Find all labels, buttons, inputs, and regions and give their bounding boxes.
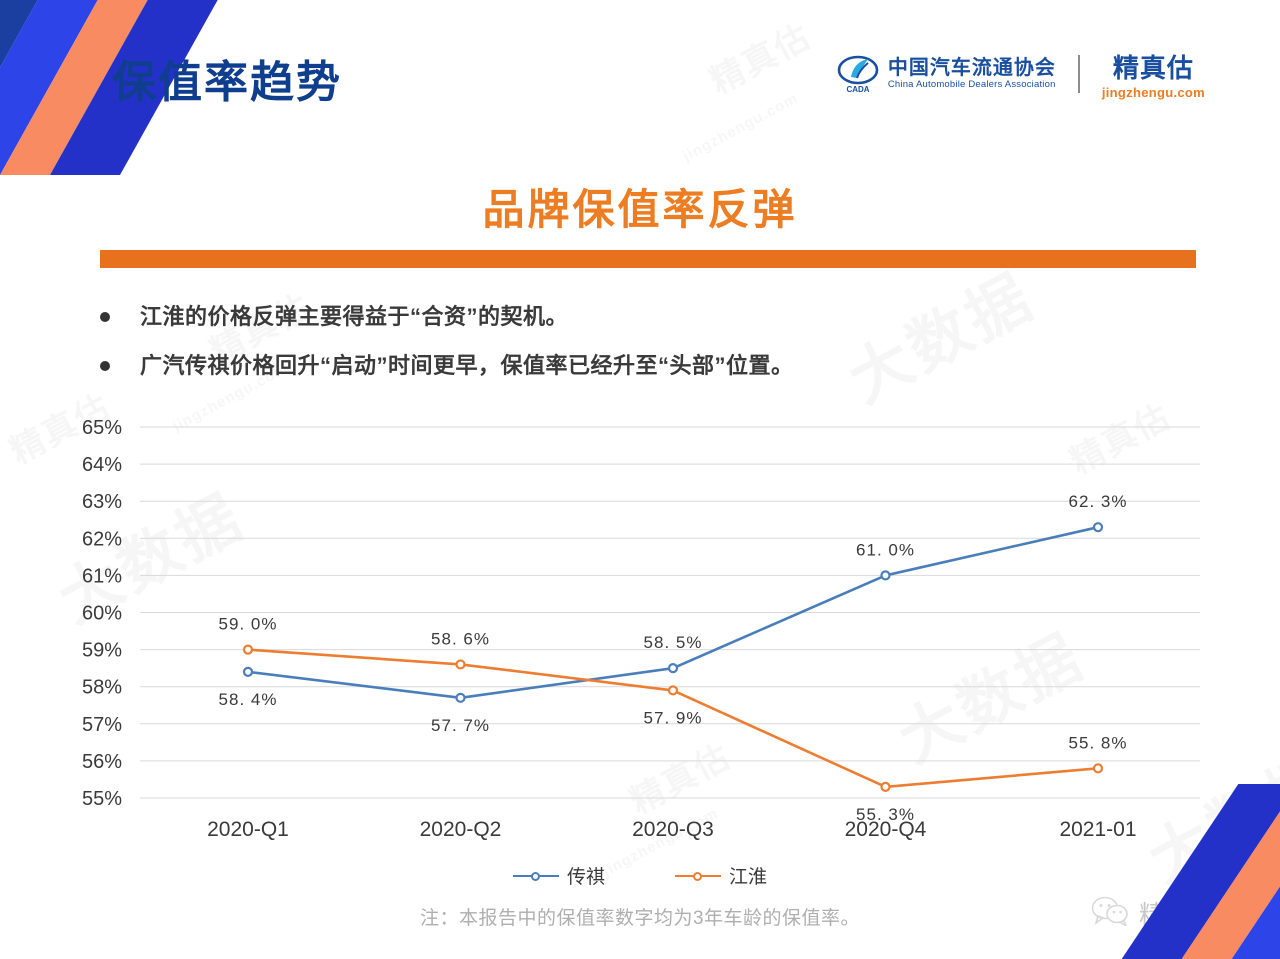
y-axis-tick-label: 62% bbox=[82, 528, 122, 550]
legend-marker-orange bbox=[675, 870, 721, 882]
logo-divider bbox=[1078, 55, 1080, 93]
chart-data-point[interactable] bbox=[882, 571, 890, 579]
jingzhengu-name-zh: 精真估 bbox=[1102, 48, 1205, 85]
chart-data-label: 59. 0% bbox=[219, 615, 278, 634]
bullet-list: 江淮的价格反弹主要得益于“合资”的契机。 广汽传祺价格回升“启动”时间更早，保值… bbox=[100, 300, 1200, 398]
legend-item-jianghuai[interactable]: 江淮 bbox=[675, 862, 767, 889]
bullet-text: 江淮的价格反弹主要得益于“合资”的契机。 bbox=[140, 300, 568, 333]
page-title: 保值率趋势 bbox=[112, 46, 342, 110]
wechat-icon bbox=[1091, 896, 1129, 931]
y-axis-tick-label: 56% bbox=[82, 751, 122, 773]
y-axis-tick-label: 64% bbox=[82, 454, 122, 476]
cada-logo-text: 中国汽车流通协会 China Automobile Dealers Associ… bbox=[888, 57, 1056, 90]
y-axis-tick-label: 58% bbox=[82, 677, 122, 699]
x-axis-tick-label: 2020-Q2 bbox=[420, 818, 502, 841]
jingzhengu-logo: 精真估 jingzhengu.com bbox=[1102, 48, 1205, 100]
cada-emblem-icon: CADA bbox=[837, 53, 879, 95]
y-axis-tick-label: 57% bbox=[82, 714, 122, 736]
legend-label: 江淮 bbox=[729, 862, 767, 889]
x-axis-tick-label: 2020-Q3 bbox=[632, 818, 714, 841]
retention-rate-line-chart: 65%64%63%62%61%60%59%58%57%56%55%2020-Q1… bbox=[0, 405, 1280, 905]
wechat-label: 精真估 bbox=[1139, 895, 1220, 932]
chart-data-point[interactable] bbox=[882, 783, 890, 791]
chart-data-label: 55. 3% bbox=[856, 805, 915, 824]
chart-data-label: 57. 9% bbox=[644, 708, 703, 727]
y-axis-tick-label: 55% bbox=[82, 788, 122, 810]
jingzhengu-name-en: jingzhengu.com bbox=[1102, 85, 1205, 100]
chart-data-point[interactable] bbox=[457, 694, 465, 702]
cada-logo: CADA 中国汽车流通协会 China Automobile Dealers A… bbox=[837, 53, 1056, 95]
y-axis-tick-label: 60% bbox=[82, 603, 122, 625]
chart-svg: 65%64%63%62%61%60%59%58%57%56%55%2020-Q1… bbox=[0, 405, 1280, 865]
bullet-dot-icon bbox=[100, 361, 110, 371]
accent-bar bbox=[100, 250, 1196, 268]
chart-data-point[interactable] bbox=[669, 664, 677, 672]
y-axis-tick-label: 59% bbox=[82, 640, 122, 662]
chart-data-point[interactable] bbox=[669, 686, 677, 694]
bullet-dot-icon bbox=[100, 312, 110, 322]
svg-text:CADA: CADA bbox=[846, 85, 869, 94]
chart-data-label: 58. 4% bbox=[219, 690, 278, 709]
legend-label: 传祺 bbox=[567, 862, 605, 889]
wechat-badge: 精真估 bbox=[1091, 895, 1220, 932]
logo-block: CADA 中国汽车流通协会 China Automobile Dealers A… bbox=[837, 48, 1205, 100]
y-axis-tick-label: 61% bbox=[82, 565, 122, 587]
legend-marker-blue bbox=[513, 870, 559, 882]
chart-data-label: 58. 6% bbox=[431, 629, 490, 648]
cada-name-zh: 中国汽车流通协会 bbox=[888, 57, 1056, 79]
chart-data-label: 57. 7% bbox=[431, 716, 490, 735]
bullet-text: 广汽传祺价格回升“启动”时间更早，保值率已经升至“头部”位置。 bbox=[140, 349, 794, 382]
list-item: 江淮的价格反弹主要得益于“合资”的契机。 bbox=[100, 300, 1200, 333]
chart-data-point[interactable] bbox=[1094, 764, 1102, 772]
chart-data-label: 62. 3% bbox=[1069, 492, 1128, 511]
chart-data-point[interactable] bbox=[244, 668, 252, 676]
chart-data-label: 58. 5% bbox=[644, 633, 703, 652]
cada-name-en: China Automobile Dealers Association bbox=[888, 79, 1056, 90]
chart-data-point[interactable] bbox=[244, 646, 252, 654]
chart-data-point[interactable] bbox=[1094, 523, 1102, 531]
chart-legend: 传祺 江淮 bbox=[0, 862, 1280, 889]
x-axis-tick-label: 2020-Q1 bbox=[207, 818, 289, 841]
section-title: 品牌保值率反弹 bbox=[0, 176, 1280, 237]
chart-data-label: 61. 0% bbox=[856, 540, 915, 559]
header: 保值率趋势 CADA 中国汽车流通协会 China Automobile Dea… bbox=[0, 0, 1280, 150]
chart-data-label: 55. 8% bbox=[1069, 733, 1128, 752]
x-axis-tick-label: 2021-01 bbox=[1059, 818, 1136, 841]
y-axis-tick-label: 63% bbox=[82, 491, 122, 513]
y-axis-tick-label: 65% bbox=[82, 417, 122, 439]
legend-item-chuanqi[interactable]: 传祺 bbox=[513, 862, 605, 889]
chart-data-point[interactable] bbox=[457, 660, 465, 668]
chart-footnote: 注：本报告中的保值率数字均为3年车龄的保值率。 bbox=[0, 903, 1280, 930]
list-item: 广汽传祺价格回升“启动”时间更早，保值率已经升至“头部”位置。 bbox=[100, 349, 1200, 382]
